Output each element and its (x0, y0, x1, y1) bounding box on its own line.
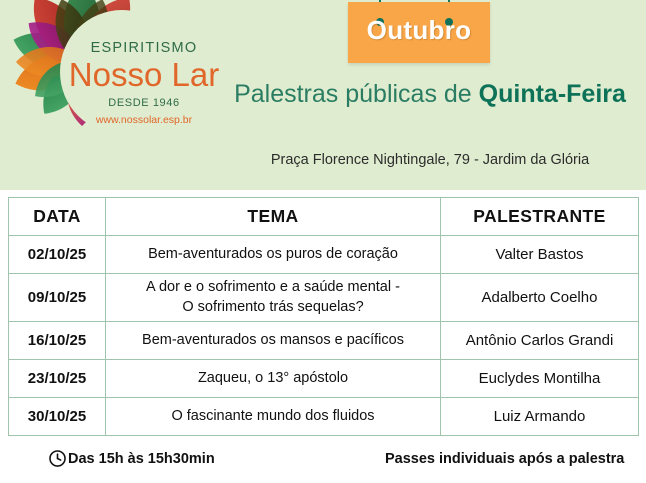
table-row: 16/10/25 Bem-aventurados os mansos e pac… (9, 322, 639, 360)
row-theme-line2: O sofrimento trás sequelas? (182, 299, 363, 315)
footer-note-text: Passes individuais após a palestra (385, 451, 624, 467)
row-theme: A dor e o sofrimento e a saúde mental - … (106, 274, 441, 322)
row-speaker: Antônio Carlos Grandi (441, 322, 639, 360)
schedule-table: DATA TEMA PALESTRANTE 02/10/25 Bem-avent… (8, 197, 639, 436)
clock-icon (48, 449, 67, 468)
header-band: ESPIRITISMO Nosso Lar DESDE 1946 www.nos… (0, 0, 646, 190)
row-theme: Zaqueu, o 13° apóstolo (106, 360, 441, 398)
row-date: 09/10/25 (9, 274, 106, 322)
logo-name: Nosso Lar (69, 56, 219, 93)
row-theme-line1: A dor e o sofrimento e a saúde mental - (146, 279, 400, 295)
logo: ESPIRITISMO Nosso Lar DESDE 1946 www.nos… (4, 0, 219, 160)
row-speaker: Valter Bastos (441, 236, 639, 274)
footer-time-text: Das 15h às 15h30min (68, 451, 215, 467)
row-speaker: Euclydes Montilha (441, 360, 639, 398)
row-theme: O fascinante mundo dos fluidos (106, 398, 441, 436)
table-row: 02/10/25 Bem-aventurados os puros de cor… (9, 236, 639, 274)
row-date: 02/10/25 (9, 236, 106, 274)
page-title: Palestras públicas de Quinta-Feira (222, 80, 638, 109)
month-badge: Outubro (348, 0, 490, 64)
row-theme-line1: Zaqueu, o 13° apóstolo (198, 370, 348, 386)
badge-label: Outubro (348, 15, 490, 46)
row-theme-line1: Bem-aventurados os puros de coração (148, 246, 398, 262)
row-speaker: Luiz Armando (441, 398, 639, 436)
table-header-row: DATA TEMA PALESTRANTE (9, 198, 639, 236)
column-header-date: DATA (9, 198, 106, 236)
row-theme-line1: O fascinante mundo dos fluidos (171, 408, 374, 424)
logo-website: www.nossolar.esp.br (95, 114, 193, 126)
page-title-prefix: Palestras públicas de (234, 80, 472, 108)
row-theme-line1: Bem-aventurados os mansos e pacíficos (142, 332, 404, 348)
logo-since: DESDE 1946 (108, 97, 179, 109)
logo-kicker: ESPIRITISMO (91, 40, 198, 56)
row-theme: Bem-aventurados os puros de coração (106, 236, 441, 274)
table-row: 30/10/25 O fascinante mundo dos fluidos … (9, 398, 639, 436)
row-date: 30/10/25 (9, 398, 106, 436)
table-row: 23/10/25 Zaqueu, o 13° apóstolo Euclydes… (9, 360, 639, 398)
venue-address: Praça Florence Nightingale, 79 - Jardim … (222, 152, 638, 168)
logo-graphic: ESPIRITISMO Nosso Lar DESDE 1946 www.nos… (4, 0, 219, 160)
page-title-highlight: Quinta-Feira (479, 80, 626, 108)
footer-time-block: Das 15h às 15h30min (48, 449, 215, 468)
column-header-theme: TEMA (106, 198, 441, 236)
row-date: 23/10/25 (9, 360, 106, 398)
footer: Das 15h às 15h30min Passes individuais a… (0, 440, 646, 483)
row-speaker: Adalberto Coelho (441, 274, 639, 322)
column-header-speaker: PALESTRANTE (441, 198, 639, 236)
row-theme: Bem-aventurados os mansos e pacíficos (106, 322, 441, 360)
row-date: 16/10/25 (9, 322, 106, 360)
table-row: 09/10/25 A dor e o sofrimento e a saúde … (9, 274, 639, 322)
